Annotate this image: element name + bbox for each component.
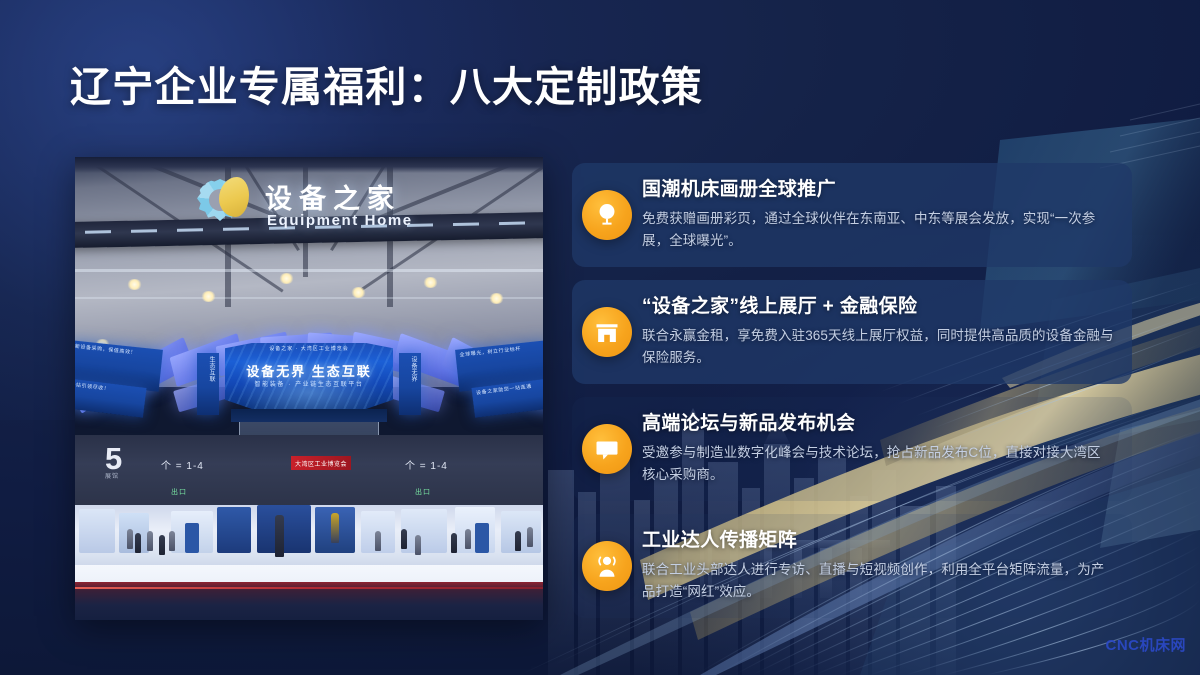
- page-title: 辽宁企业专属福利：八大定制政策: [70, 64, 703, 111]
- photo-spotlight: [489, 293, 504, 304]
- side-tag-text: 生态互联: [208, 356, 214, 382]
- photo-aisle-sign-left: 个 = 1-4: [161, 457, 204, 472]
- photo-bottom-band: [75, 582, 543, 620]
- photo-side-tag-left: 生态互联: [197, 353, 219, 415]
- photo-visitor: [465, 529, 471, 549]
- benefit-card-4[interactable]: 工业达人传播矩阵 联合工业头部达人进行专访、直播与短视频创作，利用全平台矩阵流量…: [572, 514, 1132, 618]
- side-tag-text: 设备无界: [410, 356, 416, 382]
- photo-visitor: [527, 527, 533, 547]
- benefit-card-1[interactable]: 国潮机床画册全球推广 免费获赠画册彩页，通过全球伙伴在东南亚、中东等展会发放，实…: [572, 163, 1132, 267]
- photo-exit-sign-left: 出口: [171, 487, 187, 497]
- benefit-card-title: 工业达人传播矩阵: [642, 529, 1114, 553]
- led-subline: 智能装备 · 产业链生态互联平台: [225, 379, 393, 388]
- benefits-card-list: 国潮机床画册全球推广 免费获赠画册彩页，通过全球伙伴在东南亚、中东等展会发放，实…: [572, 163, 1132, 631]
- photo-visitor-center: [275, 515, 284, 557]
- photo-visitor: [159, 535, 165, 555]
- photo-side-tag-right: 设备无界: [399, 353, 421, 415]
- broadcast-person-icon: [582, 541, 632, 591]
- hatch-lines: [1100, 104, 1200, 168]
- photo-expo-banner: 大湾区工业博览会: [291, 456, 351, 470]
- benefit-card-desc: 免费获赠画册彩页，通过全球伙伴在东南亚、中东等展会发放，实现“一次参展，全球曝光…: [642, 208, 1114, 252]
- photo-spotlight: [201, 291, 216, 302]
- globe-stand-icon: [582, 190, 632, 240]
- benefit-card-title: 高端论坛与新品发布机会: [642, 412, 1114, 436]
- benefit-card-3[interactable]: 高端论坛与新品发布机会 受邀参与制造业数字化峰会与技术论坛，抢占新品发布C位，直…: [572, 397, 1132, 501]
- photo-visitor: [451, 533, 457, 553]
- photo-spotlight: [351, 287, 366, 298]
- photo-visitor: [135, 533, 141, 553]
- photo-spotlight: [127, 279, 142, 290]
- hall-number-text: 5: [105, 441, 122, 476]
- site-watermark: CNC机床网: [1106, 634, 1187, 655]
- storefront-icon: [582, 307, 632, 357]
- benefit-card-desc: 联合永赢金租，享免费入驻365天线上展厅权益，同时提供高品质的设备金融与保险服务…: [642, 325, 1114, 369]
- photo-hall-number: 5 展馆: [105, 443, 122, 480]
- photo-led-cube-display: 设备之家 · 大湾区工业博览会 设备无界 生态互联 智能装备 · 产业链生态互联…: [225, 343, 393, 435]
- photo-brand-name-cn: 设备之家: [265, 177, 401, 216]
- benefit-card-title: “设备之家”线上展厅 + 金融保险: [642, 295, 1114, 319]
- photo-visitor: [169, 531, 175, 551]
- banner-text: 设备之家助您一站连通: [476, 384, 532, 397]
- benefit-card-desc: 联合工业头部达人进行专访、直播与短视频创作，利用全平台矩阵流量，为产品打造“网红…: [642, 559, 1114, 603]
- photo-visitor: [147, 531, 153, 551]
- photo-aisle-sign-right: 个 = 1-4: [405, 457, 448, 472]
- benefit-card-title: 国潮机床画册全球推广: [642, 178, 1114, 202]
- equipment-home-logo-icon: [197, 175, 257, 223]
- speech-bubble-icon: [582, 424, 632, 474]
- photo-spotlight: [279, 273, 294, 284]
- photo-visitor: [375, 531, 381, 551]
- banner-text: 新设备采购，保值高效！: [75, 344, 136, 356]
- benefit-card-2[interactable]: “设备之家”线上展厅 + 金融保险 联合永赢金租，享免费入驻365天线上展厅权益…: [572, 280, 1132, 384]
- photo-exit-sign-right: 出口: [415, 487, 431, 497]
- led-headline: 设备无界 生态互联: [225, 361, 393, 380]
- slide-canvas: 辽宁企业专属福利：八大定制政策 设备之家 Equipment Home: [0, 0, 1200, 675]
- photo-visitor: [127, 529, 133, 549]
- led-topline: 设备之家 · 大湾区工业博览会: [229, 345, 389, 353]
- exhibition-hall-photo: 设备之家 Equipment Home 新设备采购，保值高效！: [75, 157, 543, 620]
- photo-visitor: [515, 531, 521, 551]
- benefit-card-desc: 受邀参与制造业数字化峰会与技术论坛，抢占新品发布C位，直接对接大湾区核心采购商。: [642, 442, 1114, 486]
- photo-top-band: [75, 157, 543, 173]
- photo-hall-wall: [75, 435, 543, 507]
- banner-text: 全球曝光，树立行业标杆: [459, 346, 521, 358]
- banner-text: 一站引领尽收！: [75, 382, 110, 393]
- photo-brand-name-en: Equipment Home: [267, 212, 413, 229]
- photo-spotlight: [423, 277, 438, 288]
- photo-visitor: [415, 535, 421, 555]
- photo-visitor: [331, 513, 339, 543]
- photo-visitor: [401, 529, 407, 549]
